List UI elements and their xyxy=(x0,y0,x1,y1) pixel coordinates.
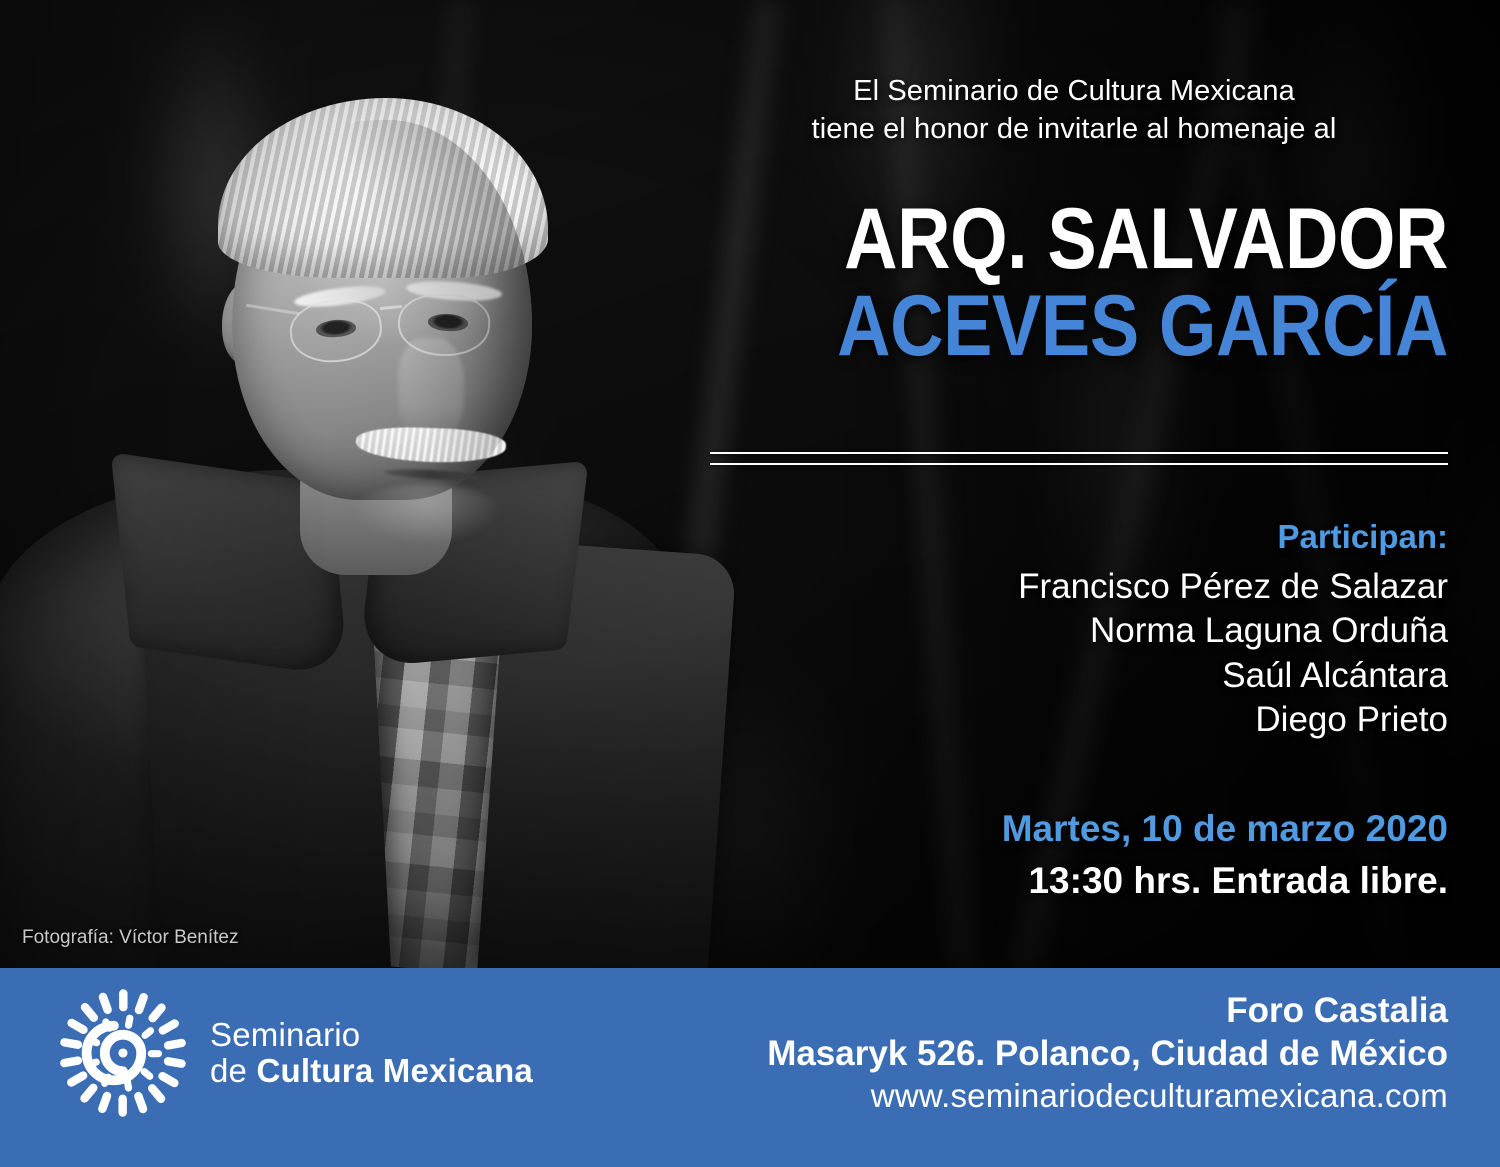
venue-address: Masaryk 526. Polanco, Ciudad de México xyxy=(767,1033,1448,1076)
invitation-intro-line1: El Seminario de Cultura Mexicana xyxy=(700,72,1448,110)
footer-bar: Seminario de Cultura Mexicana Foro Casta… xyxy=(0,968,1500,1167)
event-time-admission: 13:30 hrs. Entrada libre. xyxy=(700,860,1448,902)
honoree-name-line2: ACEVES GARCÍA xyxy=(805,285,1448,368)
invitation-intro-line2: tiene el honor de invitarle al homenaje … xyxy=(700,110,1448,148)
venue-name: Foro Castalia xyxy=(767,990,1448,1033)
event-date: Martes, 10 de marzo 2020 xyxy=(700,808,1448,850)
organization-name: Seminario de Cultura Mexicana xyxy=(210,1017,533,1088)
list-item: Norma Laguna Orduña xyxy=(700,609,1448,653)
brand-line-2-light: de xyxy=(210,1052,256,1089)
brand-line-2-bold: Cultura Mexicana xyxy=(256,1052,532,1089)
photo-credit: Fotografía: Víctor Benítez xyxy=(22,927,239,949)
participants-label: Participan: xyxy=(700,518,1448,556)
divider-rule-bottom xyxy=(710,463,1448,465)
list-item: Francisco Pérez de Salazar xyxy=(700,565,1448,609)
participants-list: Francisco Pérez de Salazar Norma Laguna … xyxy=(700,565,1448,743)
event-poster: Fotografía: Víctor Benítez El Seminario … xyxy=(0,0,1500,1167)
honoree-name-line1: ARQ. SALVADOR xyxy=(805,198,1448,281)
title-divider xyxy=(710,452,1448,465)
organization-brand: Seminario de Cultura Mexicana xyxy=(58,988,533,1118)
honoree-title: ARQ. SALVADOR ACEVES GARCÍA xyxy=(700,198,1448,367)
venue-info: Foro Castalia Masaryk 526. Polanco, Ciud… xyxy=(767,990,1448,1118)
list-item: Saúl Alcántara xyxy=(700,654,1448,698)
invitation-intro: El Seminario de Cultura Mexicana tiene e… xyxy=(700,72,1448,149)
brand-line-2: de Cultura Mexicana xyxy=(210,1053,533,1089)
seminario-sun-spiral-logo-icon xyxy=(58,988,188,1118)
divider-rule-top xyxy=(710,452,1448,454)
website-url[interactable]: www.seminariodeculturamexicana.com xyxy=(767,1075,1448,1118)
invitation-text-panel: El Seminario de Cultura Mexicana tiene e… xyxy=(700,0,1448,968)
brand-line-1: Seminario xyxy=(210,1017,533,1053)
list-item: Diego Prieto xyxy=(700,698,1448,742)
